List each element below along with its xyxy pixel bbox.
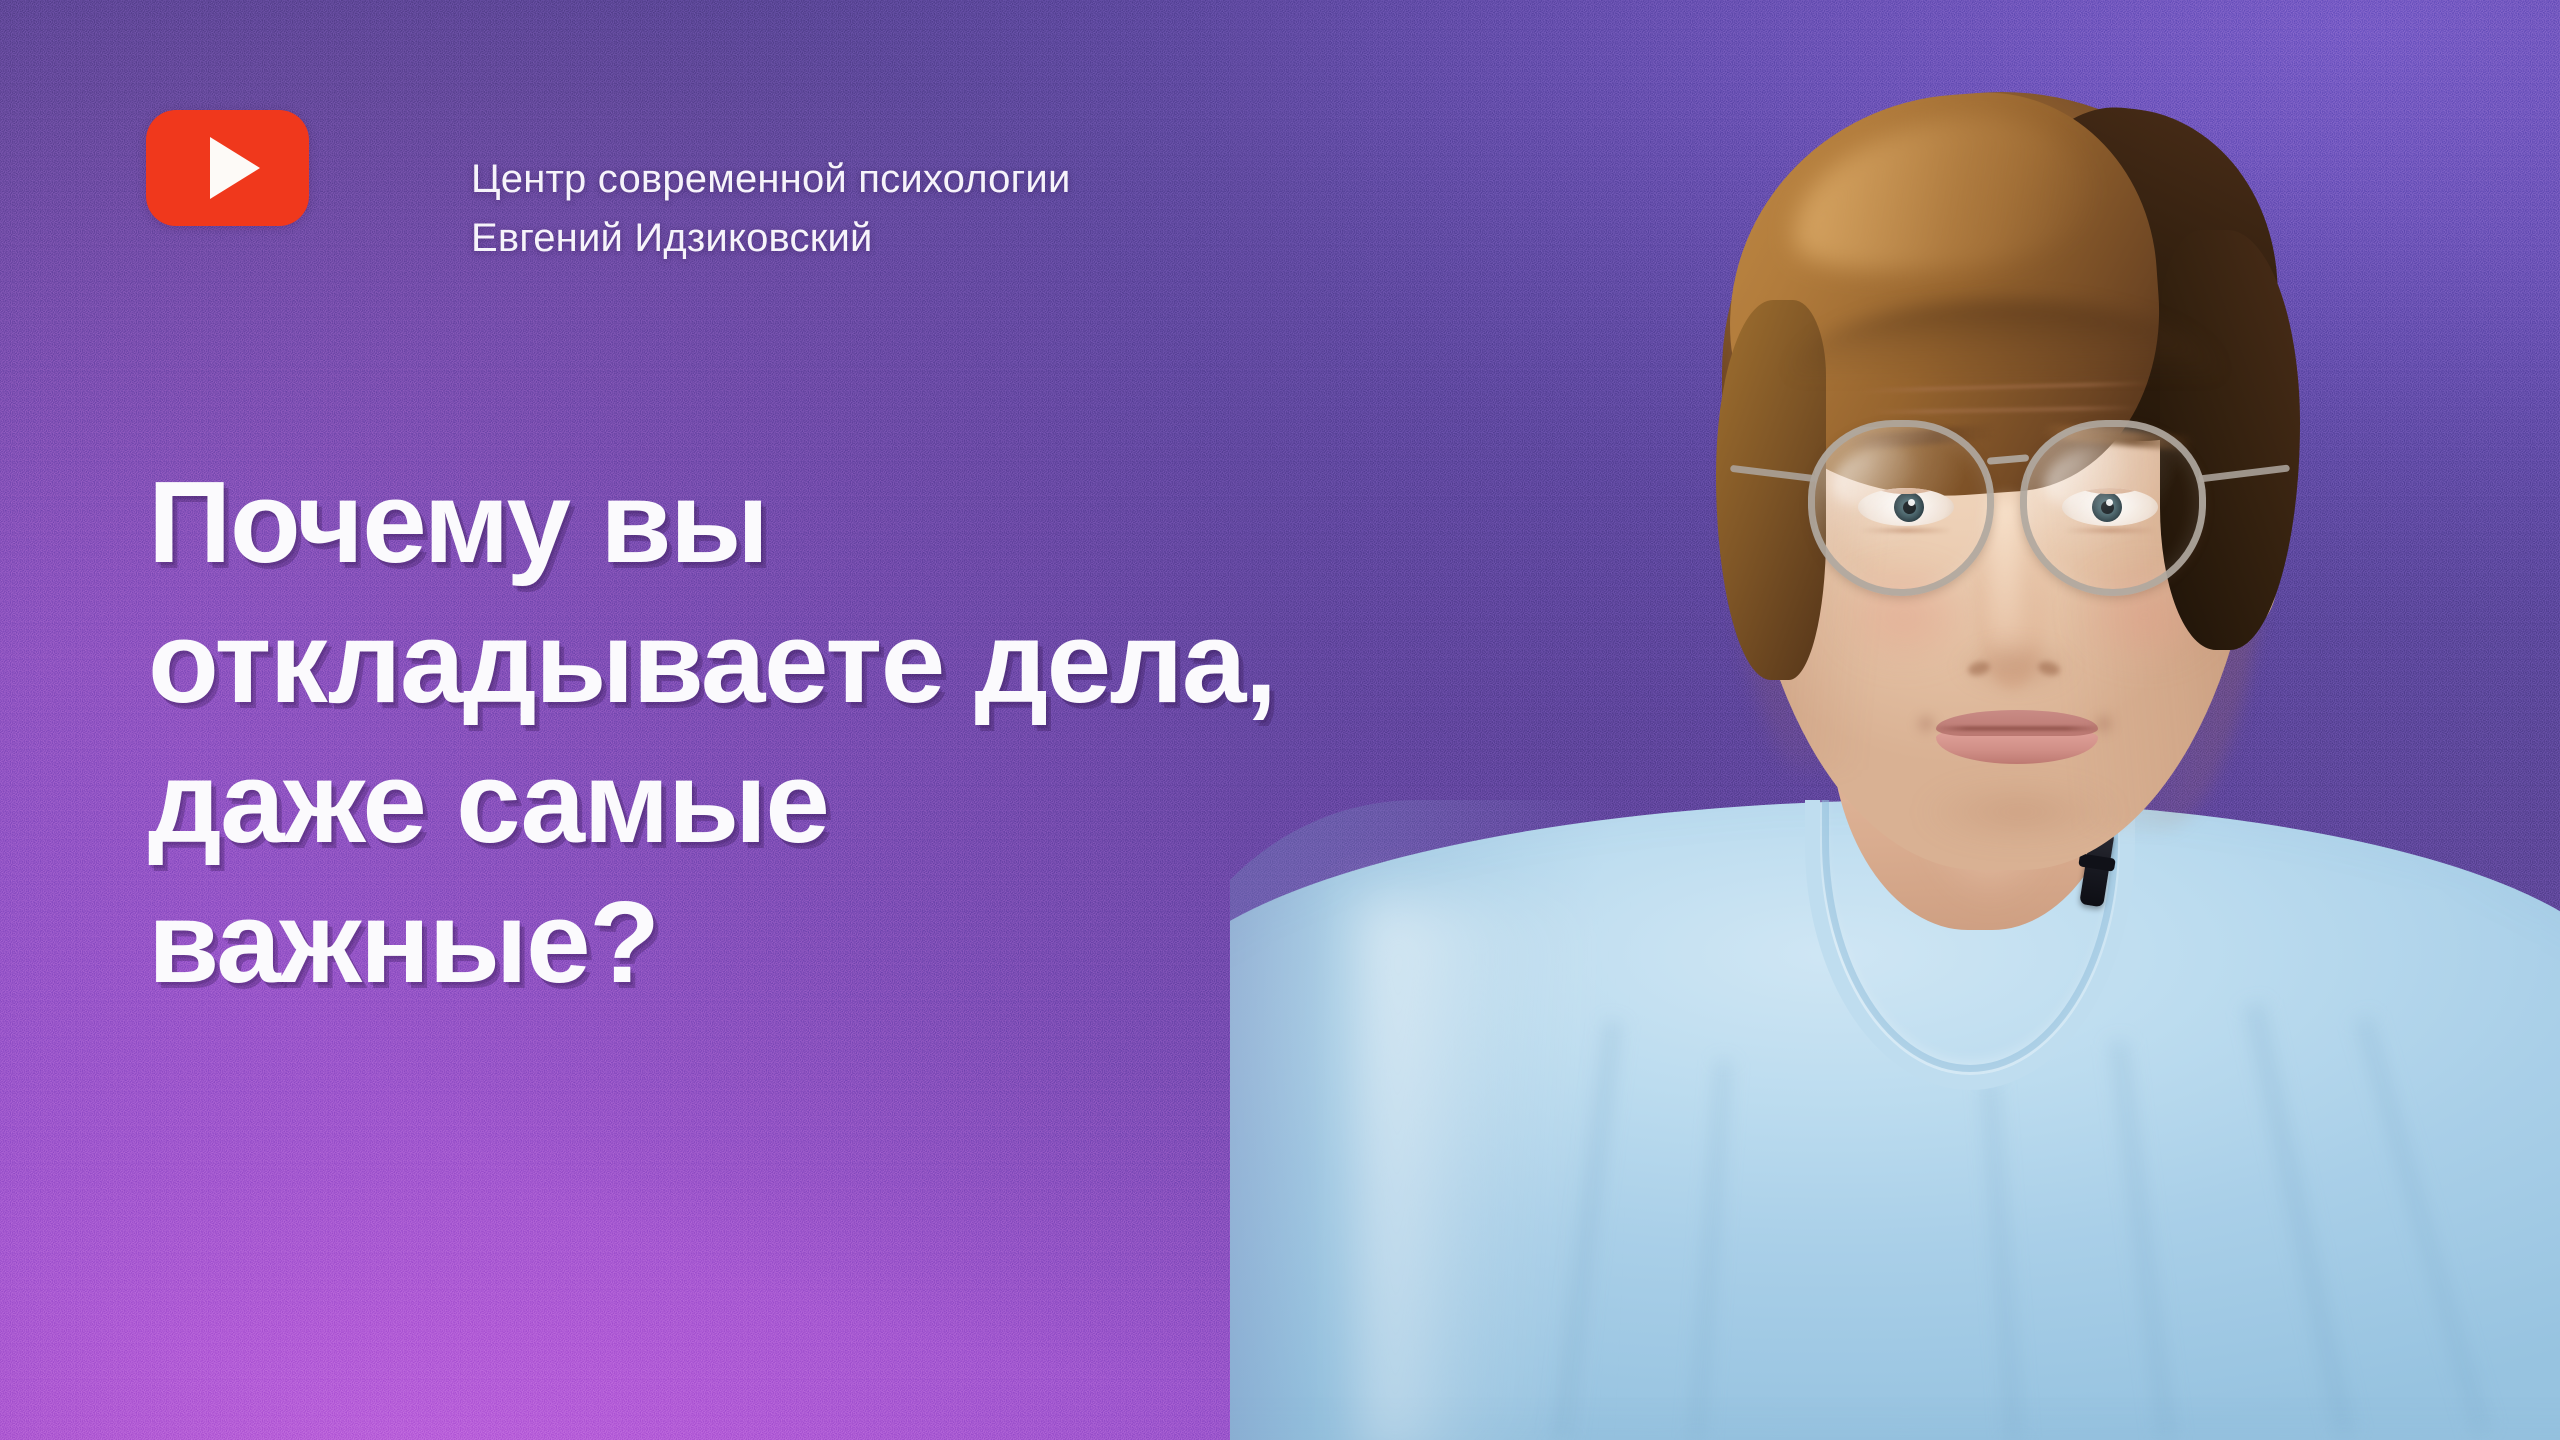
chin-shadow	[1920, 782, 2120, 842]
headline-line-2: откладываете дела,	[148, 592, 1708, 732]
play-triangle-icon	[210, 137, 260, 199]
smile-corner-right	[2092, 712, 2116, 736]
channel-name-line-2: Евгений Идзиковский	[471, 209, 1471, 268]
headline-line-4: важные?	[148, 872, 1708, 1012]
headline-line-1: Почему вы	[148, 452, 1708, 592]
smile-corner-left	[1914, 712, 1938, 736]
channel-name-line-1: Центр современной психологии	[471, 150, 1471, 209]
video-thumbnail: Центр современной психологии Евгений Идз…	[0, 0, 2560, 1440]
mouth-line	[1934, 726, 2100, 731]
channel-name: Центр современной психологии Евгений Идз…	[471, 150, 1471, 268]
youtube-play-icon[interactable]	[146, 110, 309, 226]
headline-line-3: даже самые	[148, 732, 1708, 872]
thumbnail-headline: Почему вы откладываете дела, даже самые …	[148, 452, 1708, 1012]
